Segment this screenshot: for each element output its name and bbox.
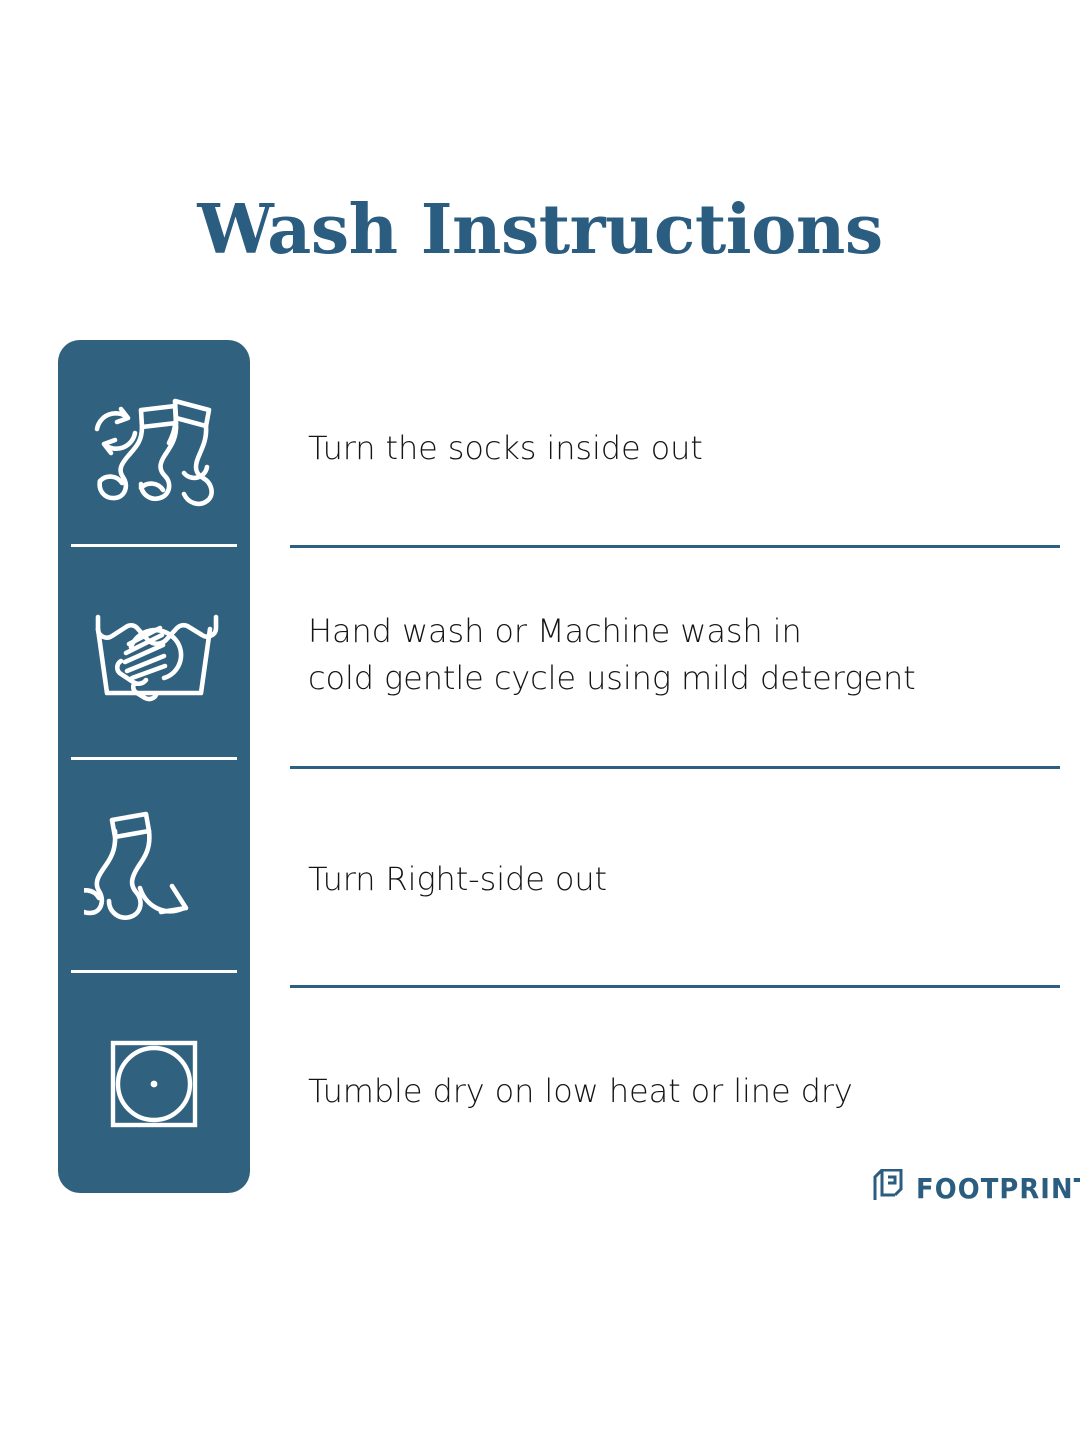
tumble-dry-low-icon <box>106 1036 202 1137</box>
instruction-line: Tumble dry on low heat or line dry <box>308 1068 1068 1115</box>
instruction-icon-cell-4 <box>58 979 250 1193</box>
instruction-line: Turn Right-side out <box>308 856 1068 903</box>
rail-divider <box>71 970 237 973</box>
instruction-line: Hand wash or Machine wash in <box>308 608 1068 655</box>
instruction-text-1: Turn the socks inside out <box>308 425 1068 472</box>
brand-logo: FOOTPRINTS <box>872 1169 1080 1208</box>
rail-divider <box>71 544 237 547</box>
instruction-divider <box>290 766 1060 769</box>
instruction-text-3: Turn Right-side out <box>308 856 1068 903</box>
instruction-line: Turn the socks inside out <box>308 425 1068 472</box>
instruction-text-2: Hand wash or Machine wash in cold gentle… <box>308 608 1068 703</box>
footprints-monogram-icon <box>872 1169 904 1208</box>
icon-rail <box>58 340 250 1193</box>
instruction-icon-cell-1 <box>58 340 250 553</box>
socks-inside-out-icon <box>79 379 229 514</box>
instruction-icon-cell-2 <box>58 553 250 766</box>
sock-right-side-out-icon <box>84 806 224 939</box>
instruction-divider <box>290 985 1060 988</box>
rail-divider <box>71 757 237 760</box>
brand-name: FOOTPRINTS <box>916 1175 1080 1203</box>
instruction-icon-cell-3 <box>58 766 250 979</box>
instruction-text-4: Tumble dry on low heat or line dry <box>308 1068 1068 1115</box>
instruction-divider <box>290 545 1060 548</box>
instruction-line: cold gentle cycle using mild detergent <box>308 655 1068 702</box>
hand-wash-basin-icon <box>88 601 220 718</box>
page-title: Wash Instructions <box>0 196 1080 264</box>
